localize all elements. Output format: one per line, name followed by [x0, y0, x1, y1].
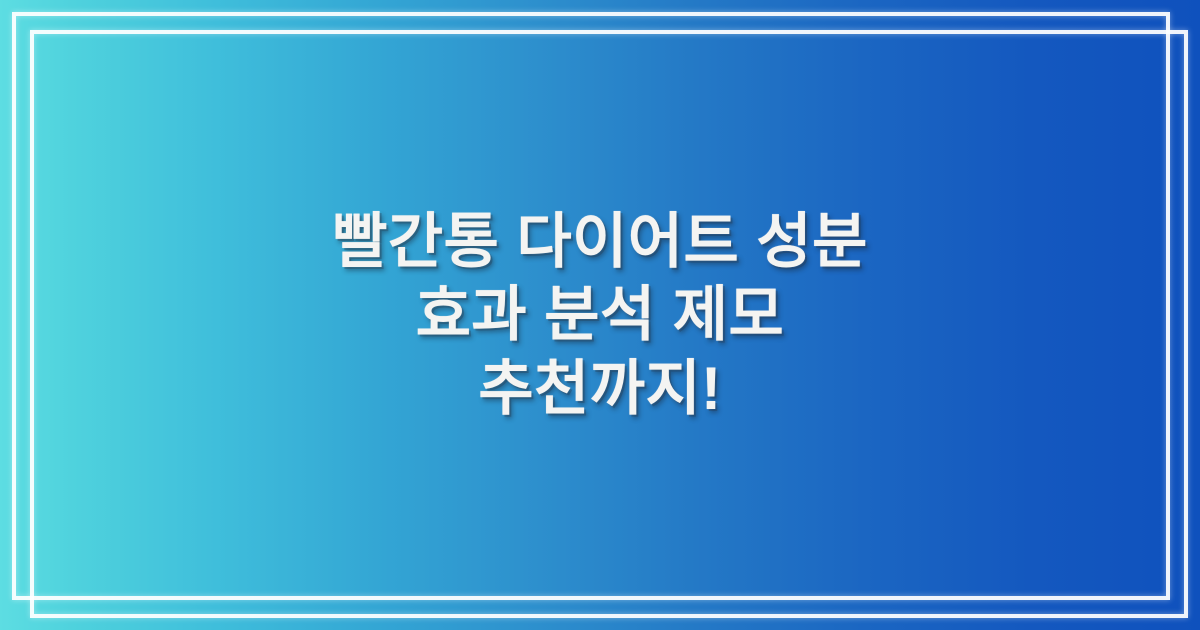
thumbnail-card: 빨간통 다이어트 성분 효과 분석 제모 추천까지! [0, 0, 1200, 630]
headline-block: 빨간통 다이어트 성분 효과 분석 제모 추천까지! [0, 0, 1200, 630]
headline-line-1: 빨간통 다이어트 성분 [332, 205, 868, 278]
headline-line-3: 추천까지! [478, 352, 721, 425]
headline-line-2: 효과 분석 제모 [416, 278, 785, 351]
